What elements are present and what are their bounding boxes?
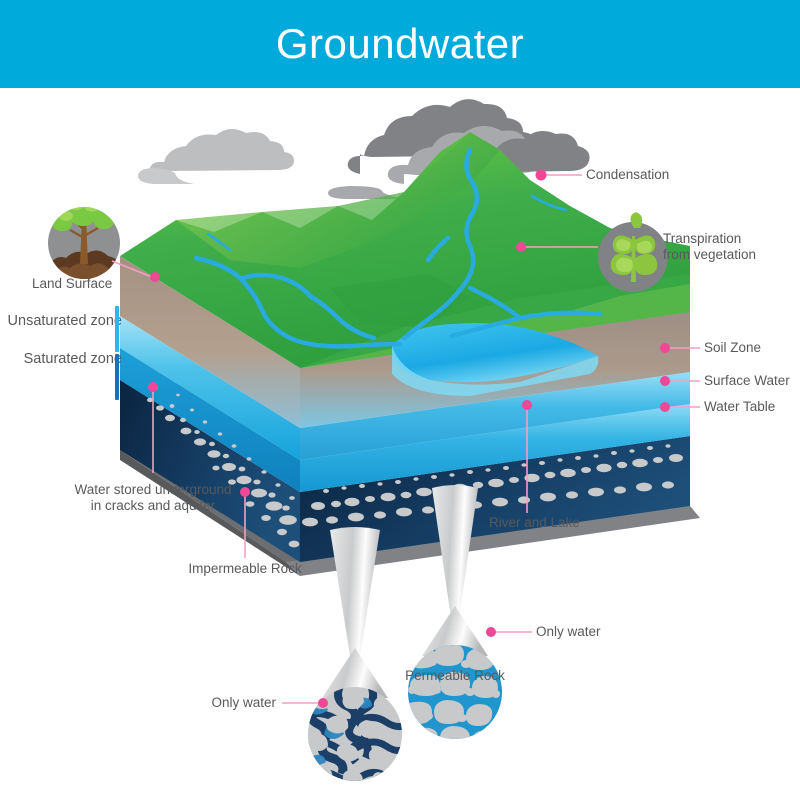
page-title-bar: Groundwater — [0, 0, 800, 88]
label-river-and-lake: River and Lake — [489, 515, 580, 531]
label-only-water-permeable: Only water — [536, 624, 601, 640]
label-water-stored-line1: Water stored underground — [40, 482, 266, 498]
label-saturated-zone: Saturated zone — [0, 351, 122, 367]
label-land-surface: Land Surface — [32, 276, 112, 292]
dot-only-water-aquifer — [318, 698, 328, 708]
label-unsaturated-zone: Unsaturated zone — [0, 313, 122, 329]
label-only-water-aquifer: Only water — [150, 695, 276, 711]
dot-river-and-lake — [522, 400, 532, 410]
sprout-plant-icon — [598, 212, 668, 292]
label-water-stored-line2: in cracks and aquifer — [40, 498, 266, 514]
zone-bar-saturated — [115, 354, 119, 400]
label-transpiration-line1: Transpiration — [663, 231, 741, 247]
dot-only-water-permeable — [486, 627, 496, 637]
zone-bar-unsaturated — [115, 306, 119, 352]
label-permeable-rock: Permeable Rock — [362, 668, 548, 684]
label-impermeable-rock: Impermeable Rock — [140, 561, 350, 577]
dot-surface-water — [660, 376, 670, 386]
label-transpiration-line2: from vegetation — [663, 247, 756, 263]
label-water-table: Water Table — [704, 399, 775, 415]
groundwater-diagram-svg — [0, 88, 800, 800]
dot-land-surface — [150, 272, 160, 282]
illustration-stage: Condensation Transpiration from vegetati… — [0, 88, 800, 800]
dot-water-table — [660, 402, 670, 412]
label-surface-water: Surface Water — [704, 373, 790, 389]
groundwater-infographic: Groundwater — [0, 0, 800, 800]
dot-condensation — [536, 170, 547, 181]
dot-soil-zone — [660, 343, 670, 353]
label-condensation: Condensation — [586, 167, 669, 183]
label-soil-zone: Soil Zone — [704, 340, 761, 356]
page-title: Groundwater — [276, 23, 524, 65]
dot-water-stored — [148, 382, 158, 392]
dot-transpiration — [516, 242, 526, 252]
